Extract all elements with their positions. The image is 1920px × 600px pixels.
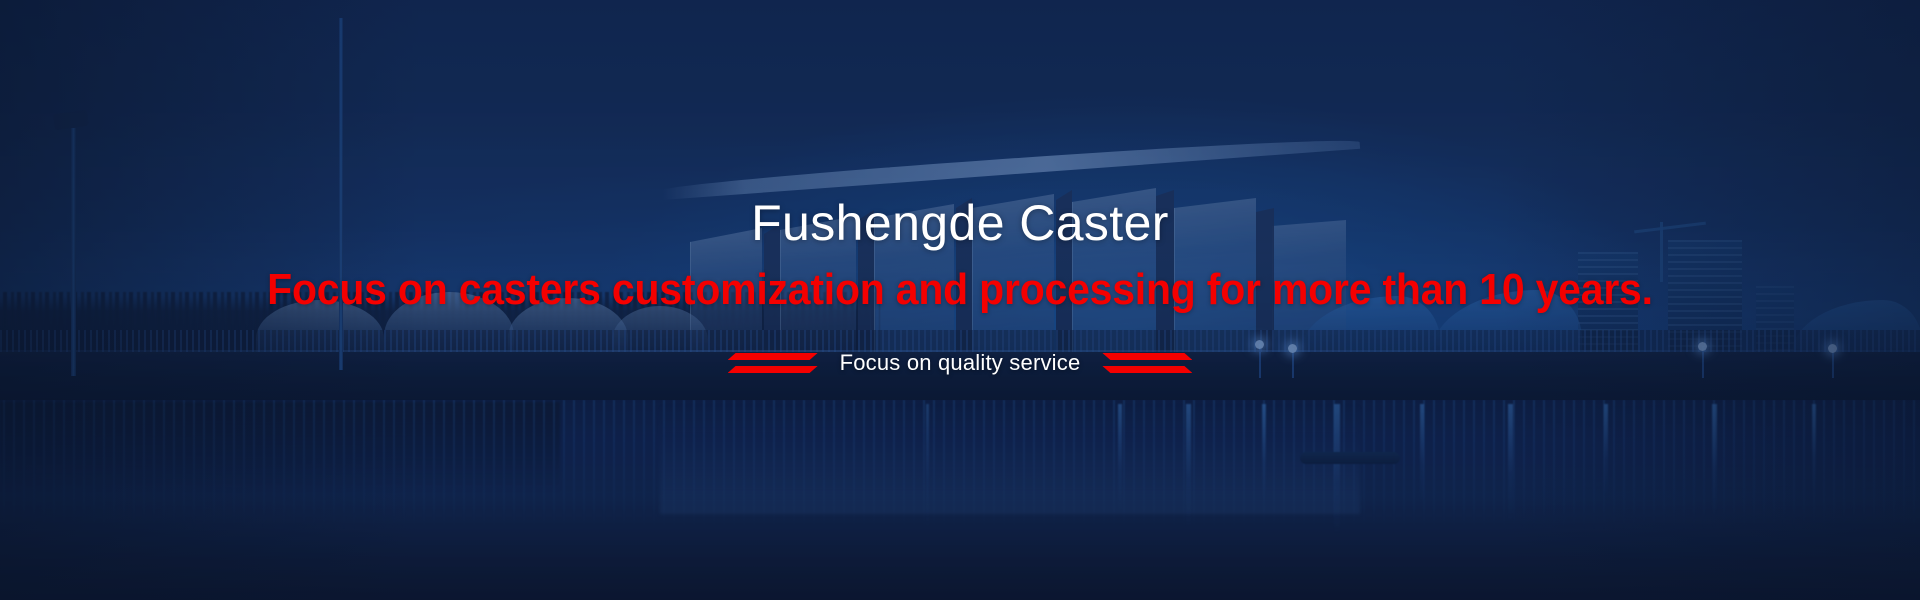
banner-tagline: Focus on quality service bbox=[840, 350, 1081, 376]
accent-bar bbox=[1102, 366, 1192, 373]
accent-bar bbox=[728, 366, 818, 373]
banner-headline: Fushengde Caster bbox=[751, 198, 1169, 248]
hero-banner: Fushengde Caster Focus on casters custom… bbox=[0, 0, 1920, 600]
banner-subheadline: Focus on casters customization and proce… bbox=[267, 268, 1653, 312]
banner-content: Fushengde Caster Focus on casters custom… bbox=[0, 0, 1920, 600]
slanted-accent-bars-left-icon bbox=[728, 353, 818, 373]
accent-bar bbox=[1102, 353, 1192, 360]
slanted-accent-bars-right-icon bbox=[1102, 353, 1192, 373]
tagline-row: Focus on quality service bbox=[728, 350, 1193, 376]
accent-bar bbox=[728, 353, 818, 360]
